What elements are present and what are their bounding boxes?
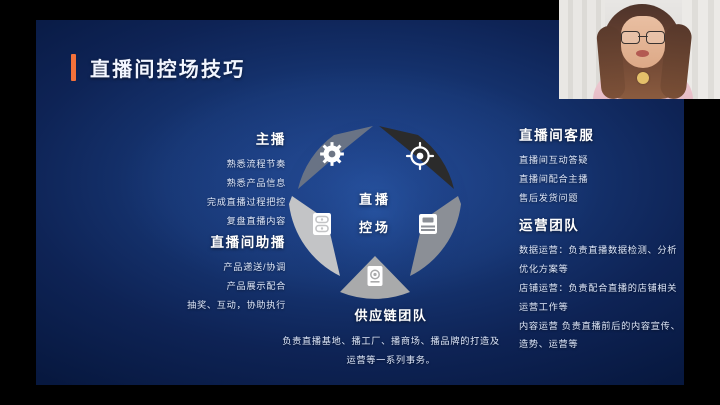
webcam-person-mouth: [636, 50, 649, 57]
block-supply-chain-line-2: 运营等一系列事务。: [251, 351, 531, 370]
screen-root: 直播间控场技巧: [0, 0, 720, 405]
block-supply-chain: 供应链团队 负责直播基地、播工厂、播商场、播品牌的打造及 运营等一系列事务。: [251, 308, 531, 370]
block-assistant-heading: 直播间助播: [66, 235, 286, 251]
block-operations-line-1: 数据运营：负责直播数据检测、分析: [519, 241, 684, 260]
block-operations-line-5: 内容运营 负责直播前后的内容宣传、: [519, 317, 684, 336]
block-anchor-line-3: 完成直播过程把控: [96, 193, 286, 212]
title-text: 直播间控场技巧: [90, 53, 245, 82]
block-anchor-line-4: 复盘直播内容: [96, 212, 286, 231]
gear-icon: [320, 142, 344, 166]
block-operations: 运营团队 数据运营：负责直播数据检测、分析 优化方案等 店铺运营：负责配合直播的…: [519, 218, 684, 354]
webcam-person-necklace: [637, 72, 649, 84]
block-service-line-2: 直播间配合主播: [519, 170, 684, 189]
block-service-line-3: 售后发货问题: [519, 189, 684, 208]
block-operations-line-3: 店铺运营：负责配合直播的店铺相关: [519, 279, 684, 298]
block-operations-line-6: 造势、运营等: [519, 335, 684, 354]
block-service: 直播间客服 直播间互动答疑 直播间配合主播 售后发货问题: [519, 128, 684, 208]
block-assistant-line-2: 产品展示配合: [66, 277, 286, 296]
title-accent-bar: [71, 54, 76, 81]
block-anchor-line-2: 熟悉产品信息: [96, 174, 286, 193]
glasses-icon: [621, 31, 665, 42]
block-service-heading: 直播间客服: [519, 128, 684, 144]
block-operations-heading: 运营团队: [519, 218, 684, 234]
block-supply-chain-heading: 供应链团队: [251, 308, 531, 324]
block-service-line-1: 直播间互动答疑: [519, 151, 684, 170]
block-assistant-line-1: 产品递送/协调: [66, 258, 286, 277]
stack-icon: [313, 213, 331, 235]
block-assistant: 直播间助播 产品递送/协调 产品展示配合 抽奖、互动，协助执行: [66, 235, 286, 315]
block-supply-chain-line-1: 负责直播基地、播工厂、播商场、播品牌的打造及: [251, 332, 531, 351]
block-anchor-line-1: 熟悉流程节奏: [96, 155, 286, 174]
presenter-webcam-overlay[interactable]: [559, 0, 720, 99]
pentagon-petal-diagram: 直播 控场: [280, 116, 470, 311]
block-anchor-heading: 主播: [96, 132, 286, 148]
block-operations-line-4: 运营工作等: [519, 298, 684, 317]
block-operations-line-2: 优化方案等: [519, 260, 684, 279]
page-title: 直播间控场技巧: [71, 53, 245, 82]
block-anchor: 主播 熟悉流程节奏 熟悉产品信息 完成直播过程把控 复盘直播内容: [96, 132, 286, 231]
document-id-icon: [368, 266, 383, 286]
server-icon: [419, 214, 437, 234]
